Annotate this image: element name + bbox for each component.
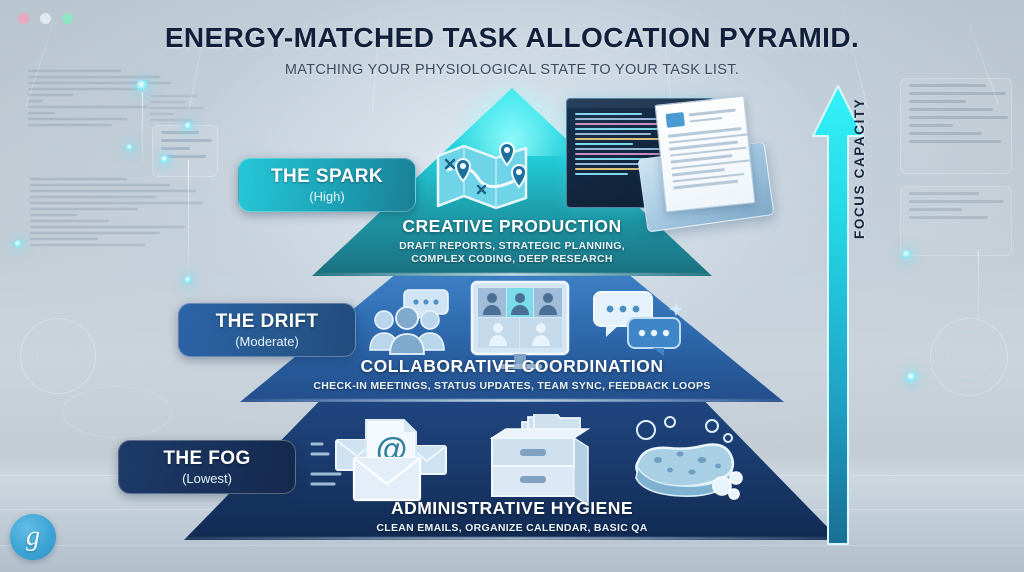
tier-fog-text: ADMINISTRATIVE HYGIENE CLEAN EMAILS, ORG…: [184, 498, 840, 535]
tier-drift-text: COLLABORATIVE COORDINATION CHECK-IN MEET…: [240, 356, 784, 393]
tier-heading: ADMINISTRATIVE HYGIENE: [184, 498, 840, 519]
tier-detail-2: COMPLEX CODING, DEEP RESEARCH: [312, 253, 712, 266]
tier-heading: COLLABORATIVE COORDINATION: [240, 356, 784, 377]
sponge-bubbles-icon: [624, 416, 744, 504]
tier-label-fog[interactable]: THE FOG (Lowest): [118, 440, 296, 494]
map-pin-icon: [434, 140, 530, 214]
tier-label-level: (Moderate): [235, 334, 299, 349]
tier-spark-text: CREATIVE PRODUCTION DRAFT REPORTS, STRAT…: [312, 216, 712, 266]
axis-label-focus-capacity: FOCUS CAPACITY: [852, 69, 876, 239]
tier-label-level: (High): [309, 189, 344, 204]
tier-label-spark[interactable]: THE SPARK (High): [238, 158, 416, 212]
tier-base-edge: [184, 537, 840, 540]
tier-label-name: THE FOG: [163, 448, 250, 470]
file-cabinet-icon: [484, 414, 594, 506]
tier-label-drift[interactable]: THE DRIFT (Moderate): [178, 303, 356, 357]
tier-label-name: THE SPARK: [271, 166, 383, 188]
chat-bubbles-icon: [592, 290, 682, 356]
document-page-icon: [655, 96, 756, 213]
tier-detail-1: CHECK-IN MEETINGS, STATUS UPDATES, TEAM …: [240, 380, 784, 393]
tier-label-name: THE DRIFT: [216, 311, 319, 333]
logo-glyph: g: [26, 523, 40, 551]
infographic-canvas: ENERGY-MATCHED TASK ALLOCATION PYRAMID. …: [0, 0, 1024, 572]
tier-detail-1: CLEAN EMAILS, ORGANIZE CALENDAR, BASIC Q…: [184, 522, 840, 535]
brand-logo[interactable]: g: [10, 514, 56, 560]
tier-label-level: (Lowest): [182, 471, 232, 486]
tier-detail-1: DRAFT REPORTS, STRATEGIC PLANNING,: [312, 240, 712, 253]
email-at-icon: @: [310, 416, 450, 504]
people-group-icon: [368, 288, 460, 356]
tier-heading: CREATIVE PRODUCTION: [312, 216, 712, 237]
